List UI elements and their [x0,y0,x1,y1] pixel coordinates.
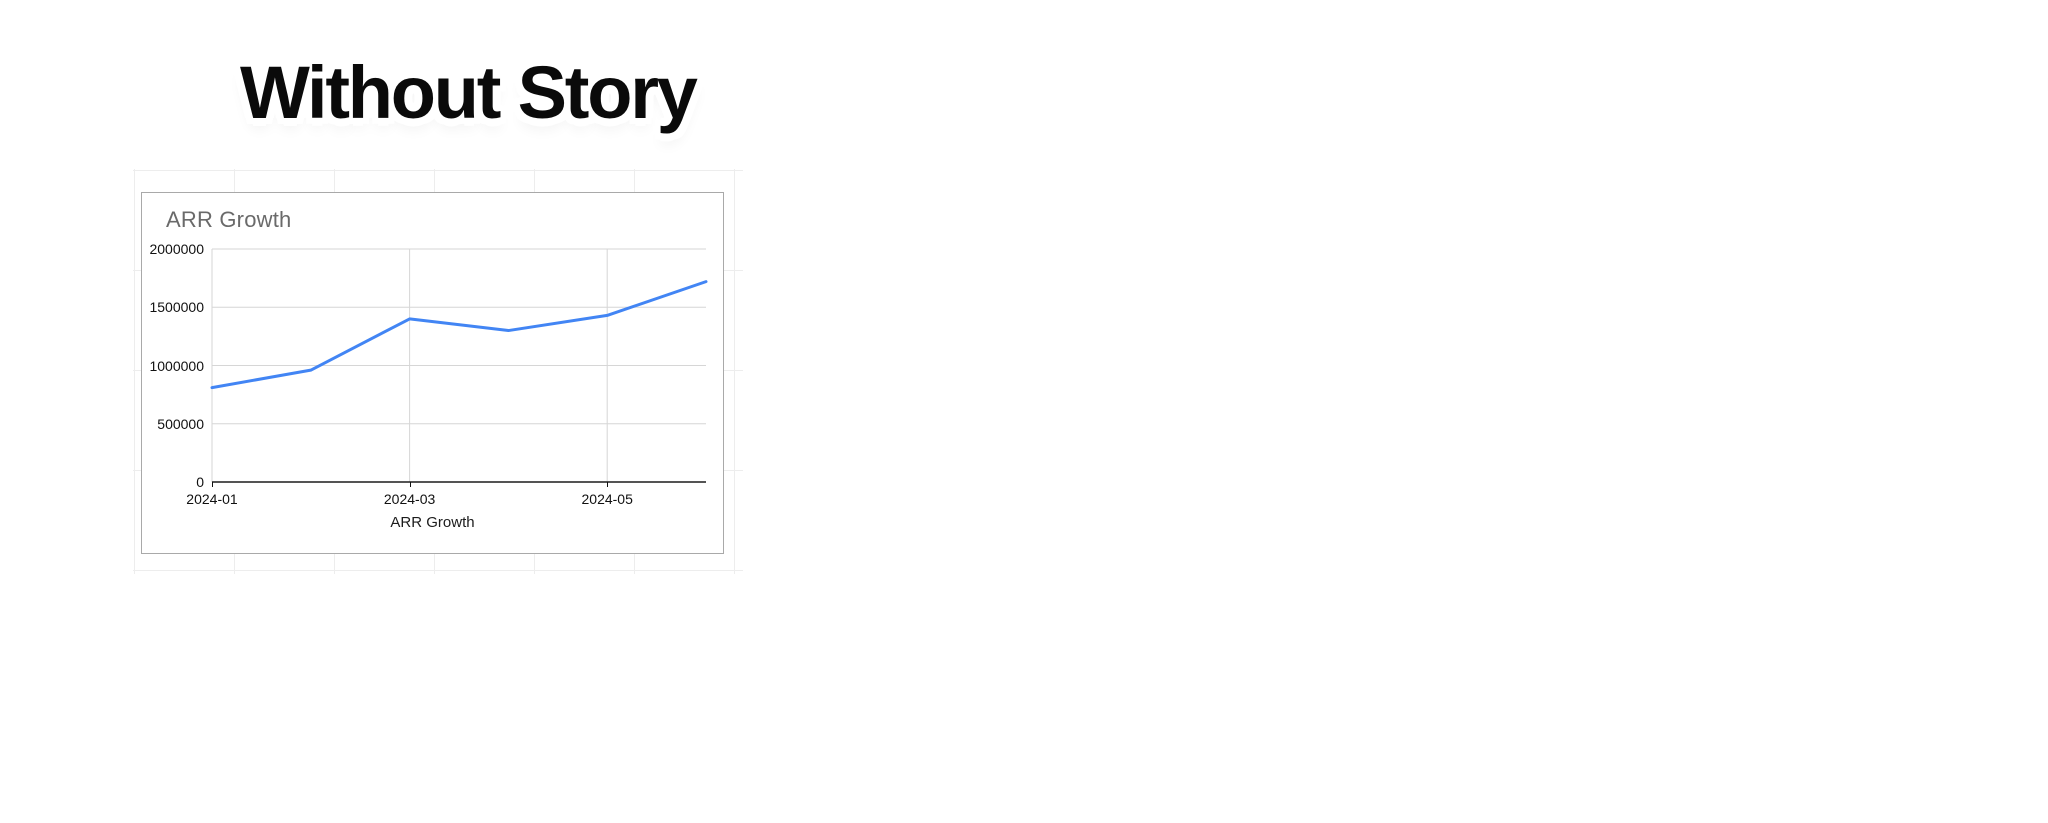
raw-series-arr-growth [212,282,706,388]
raw-chart-title: ARR Growth [166,207,291,233]
raw-ytick-0: 0 [196,474,204,490]
raw-ytick-500000: 500000 [157,416,204,432]
raw-xtick-mark-3 [607,482,608,487]
raw-ytick-1000000: 1000000 [149,358,204,374]
raw-xtick-2024-01: 2024-01 [186,491,237,507]
raw-xtick-2024-03: 2024-03 [384,491,435,507]
raw-xtick-2024-05: 2024-05 [581,491,632,507]
raw-xtick-mark-2 [410,482,411,487]
without-story-panel: Without Story ARR Growth 0 500000 100000… [0,0,1024,823]
with-story-panel: With Story Invest in Marketing to Reach … [1024,0,2048,823]
raw-chart-svg [212,249,706,482]
raw-ytick-2000000: 2000000 [149,241,204,257]
without-story-heading: Without Story [240,56,696,130]
screenshot-root: Without Story ARR Growth 0 500000 100000… [0,0,2048,823]
raw-xtick-mark-1 [212,482,213,487]
raw-gridlines [212,249,706,482]
raw-chart-plot-area: 0 500000 1000000 1500000 2000000 2024-01… [212,249,706,482]
raw-chart-xaxis-title: ARR Growth [142,514,723,531]
raw-ytick-1500000: 1500000 [149,299,204,315]
raw-chart-card: ARR Growth 0 500000 1000000 1500000 2000… [141,192,724,554]
